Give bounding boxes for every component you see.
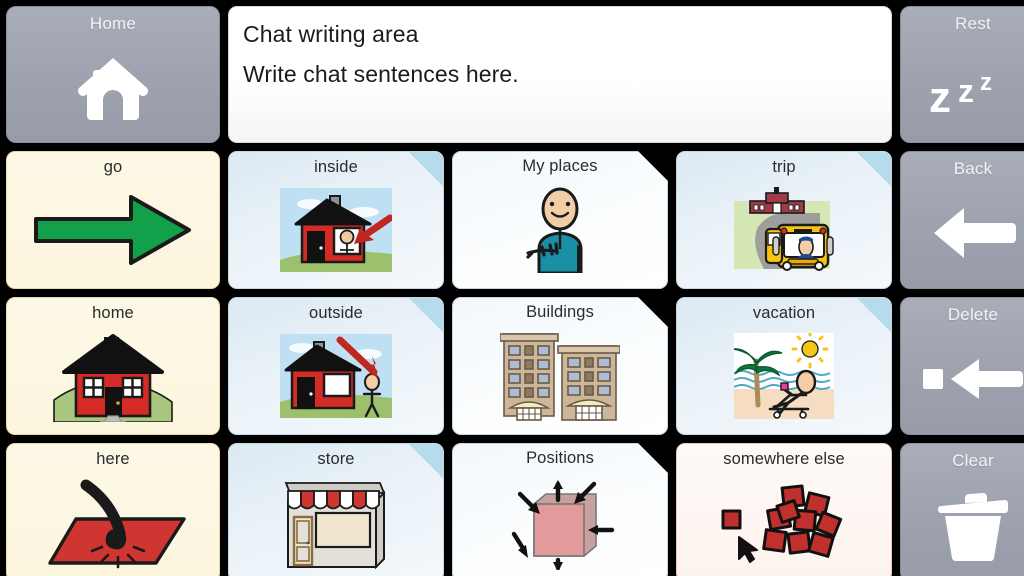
tile-buildings[interactable]: Buildings xyxy=(452,297,668,435)
house-person-inside-icon xyxy=(229,177,443,288)
tile-label: here xyxy=(7,444,219,469)
shop-awning-icon xyxy=(229,469,443,576)
svg-text:z: z xyxy=(980,69,992,96)
green-right-arrow-icon xyxy=(7,177,219,288)
tile-label: inside xyxy=(229,152,443,177)
tile-inside[interactable]: inside xyxy=(228,151,444,289)
backspace-icon xyxy=(901,325,1024,434)
chat-line-1: Chat writing area xyxy=(243,15,419,55)
svg-text:z: z xyxy=(958,73,974,109)
tile-trip[interactable]: trip xyxy=(676,151,892,289)
sleep-zzz-icon: z z z xyxy=(901,34,1024,142)
arrow-left-icon xyxy=(901,179,1024,288)
person-pointing-self-icon xyxy=(452,176,668,289)
hand-pointing-down-icon xyxy=(7,469,219,576)
tile-here[interactable]: here xyxy=(6,443,220,576)
tile-label: vacation xyxy=(677,298,891,323)
rest-button-label: Rest xyxy=(955,7,991,34)
clear-button-label: Clear xyxy=(952,444,994,471)
tile-store[interactable]: store xyxy=(228,443,444,576)
tile-label: go xyxy=(7,152,219,177)
back-button-label: Back xyxy=(954,152,993,179)
house-person-outside-icon xyxy=(229,323,443,434)
svg-text:z: z xyxy=(929,73,951,118)
tile-somewhere-else[interactable]: somewhere else xyxy=(676,443,892,576)
tile-vacation[interactable]: vacation xyxy=(676,297,892,435)
tile-home[interactable]: home xyxy=(6,297,220,435)
school-bus-road-icon xyxy=(677,177,891,288)
tile-outside[interactable]: outside xyxy=(228,297,444,435)
red-house-icon xyxy=(7,323,219,434)
tile-my-places[interactable]: My places xyxy=(452,151,668,289)
tile-label: Buildings xyxy=(452,297,668,322)
beach-palm-sun-icon xyxy=(677,323,891,434)
two-buildings-icon xyxy=(452,322,668,435)
tile-positions[interactable]: Positions xyxy=(452,443,668,576)
tile-label: somewhere else xyxy=(677,444,891,469)
delete-button[interactable]: Delete xyxy=(900,297,1024,435)
scattered-squares-icon xyxy=(677,469,891,576)
tile-label: Positions xyxy=(452,443,668,468)
tile-label: store xyxy=(229,444,443,469)
tile-label: home xyxy=(7,298,219,323)
rest-button[interactable]: Rest z z z xyxy=(900,6,1024,143)
cube-arrows-icon xyxy=(452,468,668,576)
trash-can-icon xyxy=(901,471,1024,576)
home-button-label: Home xyxy=(90,7,136,34)
tile-label: trip xyxy=(677,152,891,177)
home-icon xyxy=(7,34,219,142)
chat-writing-area[interactable]: Chat writing area Write chat sentences h… xyxy=(228,6,892,143)
back-button[interactable]: Back xyxy=(900,151,1024,289)
tile-label: My places xyxy=(452,151,668,176)
delete-button-label: Delete xyxy=(948,298,998,325)
clear-button[interactable]: Clear xyxy=(900,443,1024,576)
home-button[interactable]: Home xyxy=(6,6,220,143)
tile-label: outside xyxy=(229,298,443,323)
communication-board: Home Chat writing area Write chat senten… xyxy=(0,0,1024,576)
tile-go[interactable]: go xyxy=(6,151,220,289)
chat-line-2: Write chat sentences here. xyxy=(243,55,519,95)
